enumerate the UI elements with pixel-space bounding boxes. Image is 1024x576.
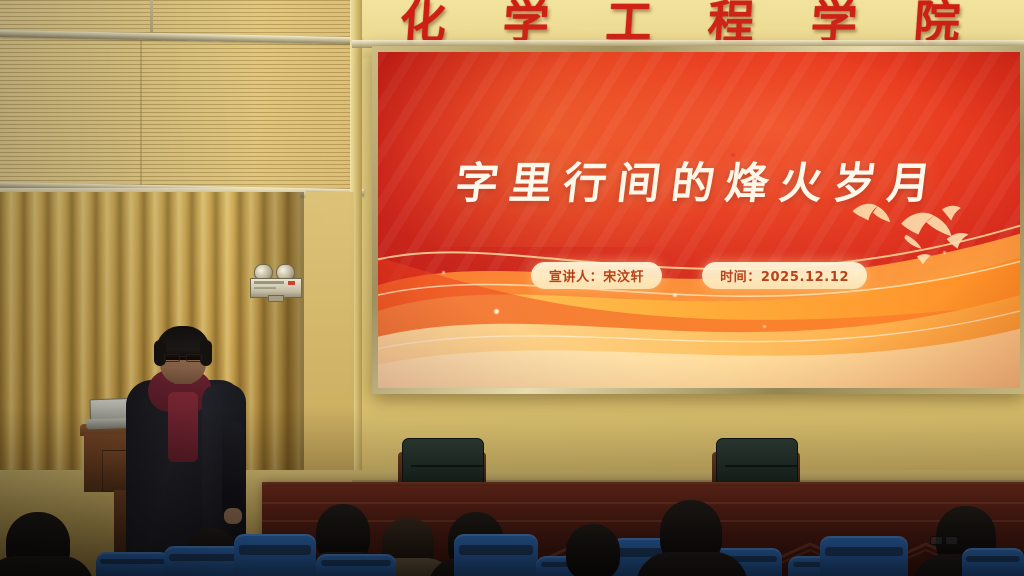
- glasses-icon: [930, 536, 956, 543]
- glasses-icon: [164, 352, 202, 360]
- glasses-lens-right: [186, 354, 202, 362]
- auditorium-seat: [164, 546, 242, 576]
- emergency-light-sublabel: [254, 287, 276, 289]
- presenter-arm: [222, 422, 244, 518]
- presenter-hand: [224, 508, 242, 524]
- audience-head: [566, 524, 620, 576]
- presenter-hoodie-front: [168, 392, 198, 462]
- table-groove: [262, 520, 1024, 522]
- auditorium-seat: [96, 552, 170, 576]
- lecture-hall-photo: 化 学 工 程 学 院: [0, 0, 1024, 576]
- led-screen-frame: 字里行间的烽火岁月 宣讲人：宋汶轩 时间：2025.12.12: [372, 46, 1024, 394]
- glasses-bridge: [178, 356, 186, 357]
- slatted-wood-panel-upper: [0, 0, 356, 196]
- glasses-lens-left: [930, 536, 943, 545]
- auditorium-seat: [962, 548, 1024, 576]
- auditorium-seat: [454, 534, 538, 576]
- presentation-slide: 字里行间的烽火岁月 宣讲人：宋汶轩 时间：2025.12.12: [378, 52, 1020, 388]
- table-groove: [262, 502, 1024, 504]
- emergency-light-icon: [250, 264, 302, 300]
- auditorium-seat: [234, 534, 316, 576]
- glasses-lens-right: [945, 536, 958, 545]
- emergency-light-mount: [268, 295, 284, 302]
- panel-seam: [150, 0, 153, 34]
- auditorium-seat: [316, 554, 396, 576]
- chair-seam: [725, 465, 797, 467]
- slide-vignette: [378, 52, 1020, 388]
- panel-seam-lower: [140, 40, 142, 186]
- emergency-light-led: [288, 281, 295, 285]
- auditorium-seat: [820, 536, 908, 576]
- emergency-light-label: [254, 281, 284, 284]
- chair-seam: [411, 465, 483, 467]
